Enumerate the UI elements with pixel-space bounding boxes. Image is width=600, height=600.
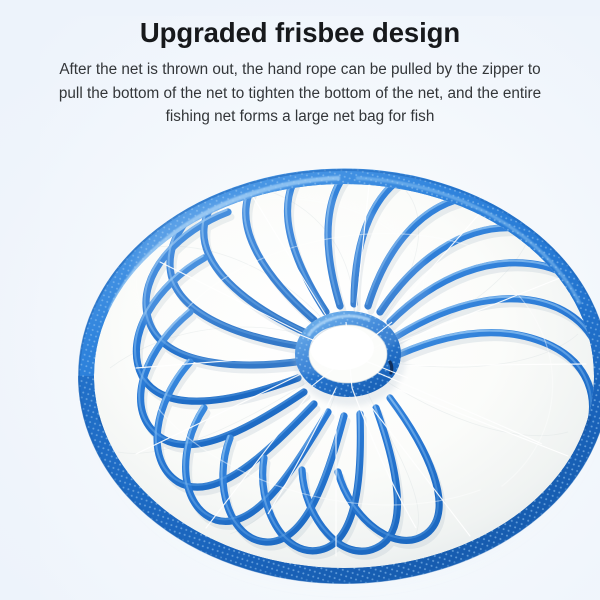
description-line-2: pull the bottom of the net to tighten th… bbox=[14, 82, 586, 106]
product-info-page: Upgraded frisbee design After the net is… bbox=[0, 0, 600, 600]
disc-gloss bbox=[130, 192, 430, 376]
description-paragraph: After the net is thrown out, the hand ro… bbox=[0, 49, 600, 129]
text-block: Upgraded frisbee design After the net is… bbox=[0, 0, 600, 129]
description-line-3: fishing net forms a large net bag for fi… bbox=[14, 105, 586, 129]
page-title: Upgraded frisbee design bbox=[0, 0, 600, 49]
description-line-1: After the net is thrown out, the hand ro… bbox=[14, 58, 586, 82]
